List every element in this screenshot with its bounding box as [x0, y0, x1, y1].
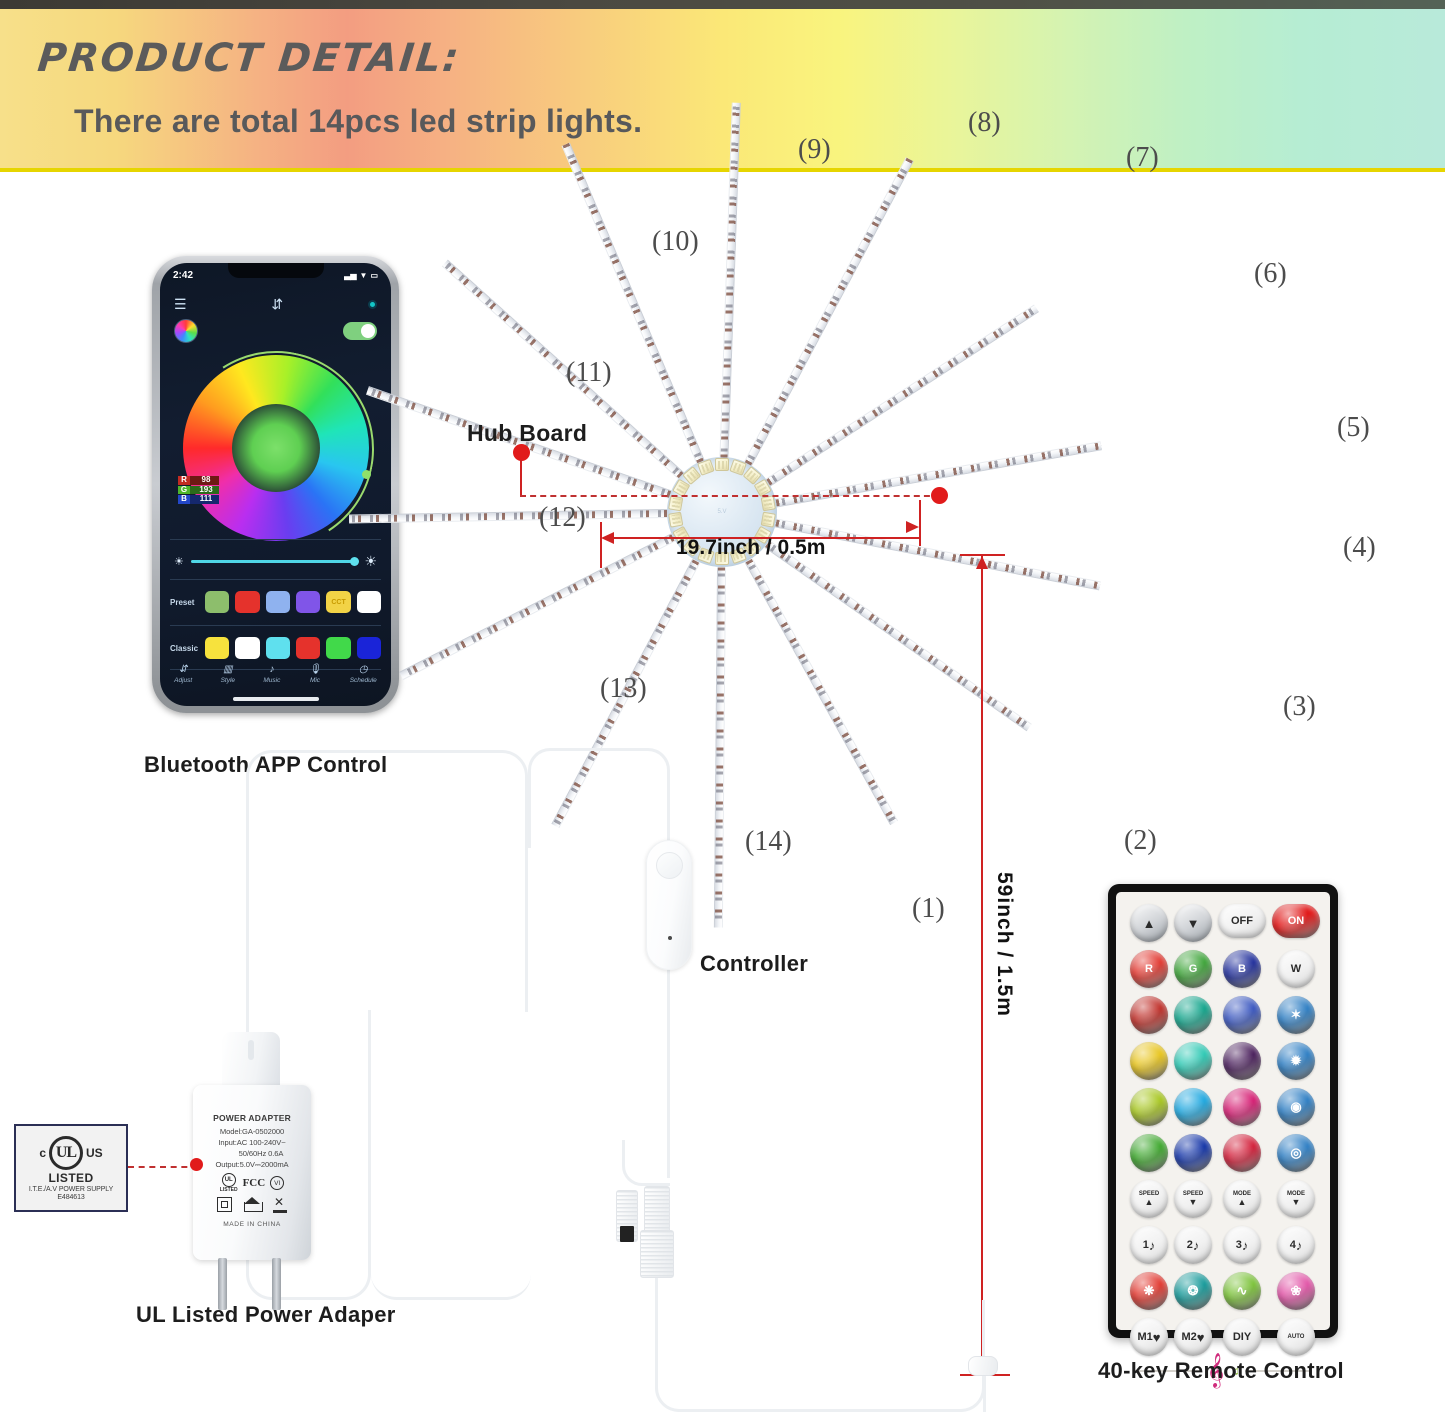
preset-swatch[interactable]: [205, 591, 229, 613]
nav-label: Style: [221, 677, 235, 684]
nav-item-adjust[interactable]: ⇵ Adjust: [174, 664, 192, 684]
brightness-up-icon: ▲: [1143, 916, 1156, 931]
app-navbar: ⇵ Adjust ▥ Style ♪ Music 🎙 Mic ◷ Sche: [160, 656, 391, 692]
mic-icon: 🎙: [309, 664, 322, 675]
ul-c-mark: c: [39, 1146, 46, 1160]
strip-number-1: (1): [912, 893, 945, 925]
usb-port-icon: [248, 1040, 254, 1060]
music-note-icon: ♪: [1193, 1238, 1200, 1253]
remote-button-r1c2[interactable]: ▼: [1174, 904, 1212, 942]
remote-button-r10c4[interactable]: AUTO: [1277, 1318, 1315, 1356]
phone-screen: 2:42 ▃▅ ▼ ▭ ☰ ⇵ R: [160, 263, 391, 706]
class-2-icon: [217, 1197, 232, 1212]
preset-swatches: Preset CCT: [160, 581, 391, 623]
remote-button-r5c3[interactable]: [1223, 1088, 1261, 1126]
phone-mockup: 2:42 ▃▅ ▼ ▭ ☰ ⇵ R: [152, 256, 399, 713]
menu-icon[interactable]: ☰: [174, 296, 187, 313]
nav-item-style[interactable]: ▥ Style: [221, 664, 235, 684]
adapter-certification-marks: UL LISTED FCC VI: [193, 1173, 311, 1193]
remote-button-r9c2[interactable]: ❂: [1174, 1272, 1212, 1310]
hmeas-left-tick: [600, 522, 602, 568]
sun-small-icon: ☀: [174, 555, 184, 568]
remote-button-r8c4[interactable]: 4♪: [1277, 1226, 1315, 1264]
nav-item-mic[interactable]: 🎙 Mic: [309, 664, 322, 684]
remote-button-r7c1[interactable]: SPEED▲: [1130, 1180, 1168, 1218]
vertical-measurement-label: 59inch / 1.5m: [992, 872, 1016, 1017]
strip-number-13: (13): [600, 673, 647, 705]
remote-button-r9c3[interactable]: ∿: [1223, 1272, 1261, 1310]
ul-callout-dashed-line: [128, 1166, 198, 1168]
hub-callout-dashed-line: [520, 495, 940, 497]
nav-label: Music: [263, 677, 280, 684]
brightness-slider[interactable]: [191, 560, 358, 563]
hub-led: [761, 512, 776, 528]
led-strip-2: [745, 558, 898, 825]
strip-number-6: (6): [1254, 258, 1287, 290]
remote-button-r8c3[interactable]: 3♪: [1223, 1226, 1261, 1264]
wave-green-icon: ∿: [1237, 1283, 1248, 1299]
ul-callout-dot: [190, 1158, 203, 1171]
led-strip-9: [562, 142, 705, 463]
remote-button-r2c2[interactable]: G: [1174, 950, 1212, 988]
preset-swatch[interactable]: [235, 591, 259, 613]
rose-pink-icon: ❀: [1291, 1283, 1302, 1299]
signal-icon: ▃▅: [344, 271, 356, 280]
arrow-up-icon: ▲: [1145, 1198, 1154, 1207]
brightness-down-icon: ▼: [1187, 916, 1200, 931]
hub-marking: 5.V: [717, 509, 726, 515]
preset-swatch-cct[interactable]: CCT: [326, 591, 350, 613]
remote-button-r1c3[interactable]: OFF: [1218, 904, 1266, 938]
rgb-value: 193: [190, 486, 219, 495]
remote-button-r6c1[interactable]: [1130, 1134, 1168, 1172]
remote-control: ▲▼OFFONRGBW✶✹◉◎SPEED▲SPEED▼MODE▲MODE▼1♪2…: [1108, 884, 1338, 1338]
preset-swatch[interactable]: [357, 591, 381, 613]
rgb-readout: R 98 G 193 B 111: [178, 476, 219, 505]
hub-led: [668, 512, 683, 528]
nav-item-schedule[interactable]: ◷ Schedule: [350, 664, 377, 684]
remote-button-r3c2[interactable]: [1174, 996, 1212, 1034]
music-note-icon: ♪: [1149, 1238, 1156, 1253]
remote-button-r8c1[interactable]: 1♪: [1130, 1226, 1168, 1264]
brightness-slider-section: ☀ ☀: [160, 544, 391, 578]
remote-button-r5c2[interactable]: [1174, 1088, 1212, 1126]
burst-teal-icon: ❂: [1188, 1283, 1199, 1299]
remote-button-r4c4[interactable]: ✹: [1277, 1042, 1315, 1080]
efficiency-level-vi-icon: VI: [270, 1176, 284, 1190]
adapter-cable-loop-bottom: [371, 1010, 531, 1300]
adapter-input-1: Input:AC 100-240V~: [193, 1138, 311, 1147]
controller-split-left: [622, 1140, 670, 1186]
usb-plug-tip: [620, 1226, 634, 1242]
music-icon: ♪: [269, 664, 274, 675]
remote-button-label: DIY: [1233, 1331, 1251, 1343]
nav-label: Mic: [310, 677, 320, 684]
led-strip-7: [744, 157, 914, 466]
hub-board-label: Hub Board: [467, 420, 587, 447]
rgb-key: R: [178, 476, 190, 485]
rgb-key: B: [178, 495, 190, 504]
remote-button-label: OFF: [1231, 915, 1253, 927]
strip-end-cap: [968, 1356, 998, 1376]
remote-button-r3c4[interactable]: ✶: [1277, 996, 1315, 1034]
remote-button-r2c3[interactable]: B: [1223, 950, 1261, 988]
brightness-slider-knob[interactable]: [350, 557, 359, 566]
rgb-row-blue: B 111: [178, 495, 219, 504]
strip-number-12: (12): [539, 502, 586, 534]
strip-number-3: (3): [1283, 691, 1316, 723]
strip-number-9: (9): [798, 134, 831, 166]
remote-button-r1c4[interactable]: ON: [1272, 904, 1320, 938]
remote-button-r7c3[interactable]: MODE▲: [1223, 1180, 1261, 1218]
hub-center-dot: [931, 487, 948, 504]
color-wheel-knob[interactable]: [362, 470, 371, 479]
remote-button-r2c1[interactable]: R: [1130, 950, 1168, 988]
remote-button-r4c2[interactable]: [1174, 1042, 1212, 1080]
remote-button-r6c2[interactable]: [1174, 1134, 1212, 1172]
remote-button-r9c4[interactable]: ❀: [1277, 1272, 1315, 1310]
remote-button-r2c4[interactable]: W: [1277, 950, 1315, 988]
adapter-title: POWER ADAPTER: [193, 1113, 311, 1123]
remote-button-label: AUTO: [1288, 1334, 1305, 1340]
divider: [170, 579, 381, 580]
power-adapter: POWER ADAPTER Model:GA-0502000 Input:AC …: [193, 1085, 311, 1260]
arrow-down-icon: ▼: [1292, 1198, 1301, 1207]
rgb-key: G: [178, 486, 190, 495]
remote-button-r8c2[interactable]: 2♪: [1174, 1226, 1212, 1264]
ul-mark-icon: UL LISTED: [220, 1173, 238, 1193]
adapter-input-2: 50/60Hz 0.6A: [193, 1149, 311, 1158]
horizontal-measurement-label: 19.7inch / 0.5m: [676, 536, 825, 560]
flash-icon: ✶: [1291, 1007, 1302, 1023]
fade-icon: ◉: [1290, 1099, 1301, 1115]
burst-red-icon: ❋: [1144, 1283, 1155, 1299]
page-title: PRODUCT DETAIL:: [36, 36, 463, 81]
ul-logo-icon: UL: [49, 1136, 83, 1170]
strip-number-10: (10): [652, 226, 699, 258]
adapter-output: Output:5.0V⎓2000mA: [193, 1160, 311, 1170]
strip-number-7: (7): [1126, 142, 1159, 174]
strobe-icon: ✹: [1291, 1053, 1302, 1069]
remote-button-r5c1[interactable]: [1130, 1088, 1168, 1126]
divider: [170, 539, 381, 540]
led-strip-1: [714, 567, 726, 927]
remote-button-r4c1[interactable]: [1130, 1042, 1168, 1080]
remote-button-r4c3[interactable]: [1223, 1042, 1261, 1080]
remote-button-r9c1[interactable]: ❋: [1130, 1272, 1168, 1310]
rgb-row-red: R 98: [178, 476, 219, 485]
heart-icon: ♥: [1197, 1330, 1205, 1345]
power-icon[interactable]: [368, 300, 377, 309]
caption-controller: Controller: [700, 951, 808, 977]
controller-cable-top: [528, 748, 670, 848]
hub-callout-stem: [520, 460, 522, 496]
controller-indicator-led: [668, 936, 672, 940]
classic-label: Classic: [170, 644, 199, 653]
remote-button-r7c4[interactable]: MODE▼: [1277, 1180, 1315, 1218]
remote-button-r7c2[interactable]: SPEED▼: [1174, 1180, 1212, 1218]
sun-large-icon: ☀: [364, 553, 377, 570]
remote-button-r6c3[interactable]: [1223, 1134, 1261, 1172]
vmeas-line: [981, 556, 983, 1376]
weee-bin-icon: [273, 1197, 287, 1213]
hub-led: [668, 495, 683, 511]
sliders-icon: ⇵: [179, 664, 187, 675]
caption-remote: 40-key Remote Control: [1098, 1358, 1344, 1384]
led-strip-13: [399, 533, 675, 679]
rgb-value: 111: [190, 495, 219, 504]
made-in-label: MADE IN CHINA: [193, 1221, 311, 1228]
app-topbar: ☰ ⇵: [160, 289, 391, 319]
music-note-icon: ♪: [1296, 1238, 1303, 1253]
remote-button-label: G: [1189, 963, 1198, 975]
status-time: 2:42: [173, 270, 193, 281]
remote-button-r10c3[interactable]: DIY: [1223, 1318, 1261, 1356]
arrow-down-icon: ▼: [1189, 1198, 1198, 1207]
hmeas-right-tick: [919, 500, 921, 546]
adapter-symbols: [193, 1197, 311, 1213]
arrow-up-icon: ▲: [1238, 1198, 1247, 1207]
smooth-icon: ◎: [1290, 1145, 1301, 1161]
controller-button[interactable]: [656, 852, 683, 879]
adapter-cable-loop-top: [246, 750, 528, 1012]
remote-button-r6c4[interactable]: ◎: [1277, 1134, 1315, 1172]
remote-button-r3c3[interactable]: [1223, 996, 1261, 1034]
remote-button-grid: ▲▼OFFONRGBW✶✹◉◎SPEED▲SPEED▼MODE▲MODE▼1♪2…: [1130, 904, 1316, 1356]
remote-button-r1c1[interactable]: ▲: [1130, 904, 1168, 942]
header-banner: PRODUCT DETAIL: There are total 14pcs le…: [0, 0, 1445, 172]
nav-item-music[interactable]: ♪ Music: [263, 664, 280, 684]
remote-button-label: B: [1238, 963, 1246, 975]
wifi-icon: ▼: [360, 271, 368, 280]
hub-led: [761, 495, 776, 511]
ul-listed-text: LISTED: [48, 1171, 93, 1185]
phone-notch: [228, 263, 324, 278]
remote-button-r10c2[interactable]: M2♥: [1174, 1318, 1212, 1356]
strip-number-2: (2): [1124, 825, 1157, 857]
strip-number-4: (4): [1343, 532, 1376, 564]
caption-adapter: UL Listed Power Adaper: [136, 1302, 396, 1328]
bottom-cable-u: [655, 1300, 985, 1412]
preset-label: Preset: [170, 598, 199, 607]
remote-button-r10c1[interactable]: M1♥: [1130, 1318, 1168, 1356]
vmeas-top-tick: [960, 554, 1005, 556]
hmeas-arrow-left: [601, 532, 614, 544]
divider: [170, 625, 381, 626]
power-toggle[interactable]: [343, 322, 377, 340]
remote-button-r5c4[interactable]: ◉: [1277, 1088, 1315, 1126]
product-detail-page: PRODUCT DETAIL: There are total 14pcs le…: [0, 0, 1445, 1424]
remote-face: ▲▼OFFONRGBW✶✹◉◎SPEED▲SPEED▼MODE▲MODE▼1♪2…: [1116, 892, 1330, 1330]
fcc-icon: FCC: [243, 1177, 266, 1189]
hub-led: [715, 458, 729, 471]
strip-number-5: (5): [1337, 412, 1370, 444]
remote-button-label: M2: [1182, 1331, 1197, 1343]
ul-listed-badge: c UL US LISTED I.T.E./A.V POWER SUPPLY E…: [14, 1124, 128, 1212]
banner-subtitle: There are total 14pcs led strip lights.: [74, 103, 642, 140]
ul-us-mark: US: [86, 1146, 103, 1160]
nav-label: Adjust: [174, 677, 192, 684]
strip-number-8: (8): [968, 107, 1001, 139]
remote-button-label: W: [1291, 963, 1301, 975]
heart-icon: ♥: [1153, 1330, 1161, 1345]
battery-icon: ▭: [370, 271, 378, 280]
rgb-value: 98: [190, 476, 219, 485]
remote-button-label: ON: [1288, 915, 1305, 927]
remote-button-label: M1: [1138, 1331, 1153, 1343]
nav-label: Schedule: [350, 677, 377, 684]
music-note-icon: ♪: [1242, 1238, 1249, 1253]
clock-icon: ◷: [359, 664, 368, 675]
hub-board-pointer-dot: [513, 444, 530, 461]
controller-device[interactable]: [646, 840, 692, 970]
preset-swatch[interactable]: [266, 591, 290, 613]
jst-connector-upper: [644, 1186, 670, 1234]
remote-button-r3c1[interactable]: [1130, 996, 1168, 1034]
grid-icon: ▥: [223, 664, 232, 675]
home-indicator: [233, 697, 319, 701]
bottom-cable-up: [983, 1372, 986, 1412]
strip-number-14: (14): [745, 826, 792, 858]
color-wheel[interactable]: [183, 355, 369, 541]
rgb-row-green: G 193: [178, 486, 219, 495]
ul-file-number: E484613: [57, 1194, 84, 1201]
jst-connector-lower: [640, 1230, 674, 1278]
adapter-model: Model:GA-0502000: [193, 1127, 311, 1136]
sliders-icon[interactable]: ⇵: [271, 296, 283, 313]
ul-category-text: I.T.E./A.V POWER SUPPLY: [29, 1186, 113, 1193]
remote-button-label: R: [1145, 963, 1153, 975]
preset-swatch[interactable]: [296, 591, 320, 613]
strip-number-11: (11): [566, 357, 612, 389]
vmeas-arrow-up: [976, 556, 988, 569]
indoor-use-icon: [244, 1197, 261, 1212]
hmeas-arrow-right: [906, 521, 919, 533]
color-mode-icon[interactable]: [174, 319, 198, 343]
